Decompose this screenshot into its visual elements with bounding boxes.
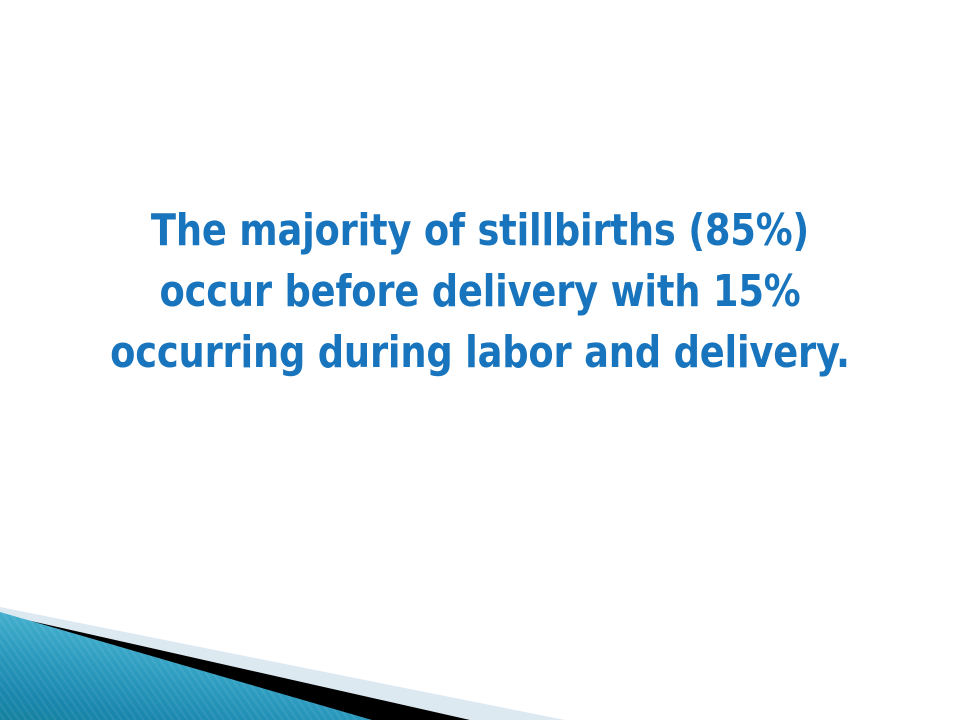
slide-body-placeholder[interactable]: The majority of stillbirths (85%) occur …: [80, 200, 880, 470]
teal-band: [0, 612, 372, 720]
slide-body-text: The majority of stillbirths (85%) occur …: [108, 200, 852, 383]
slide-canvas: The majority of stillbirths (85%) occur …: [0, 0, 960, 720]
pale-band: [0, 607, 565, 720]
corner-decoration: [0, 590, 620, 720]
black-wedge: [0, 614, 470, 720]
teal-band-texture: [0, 612, 372, 720]
